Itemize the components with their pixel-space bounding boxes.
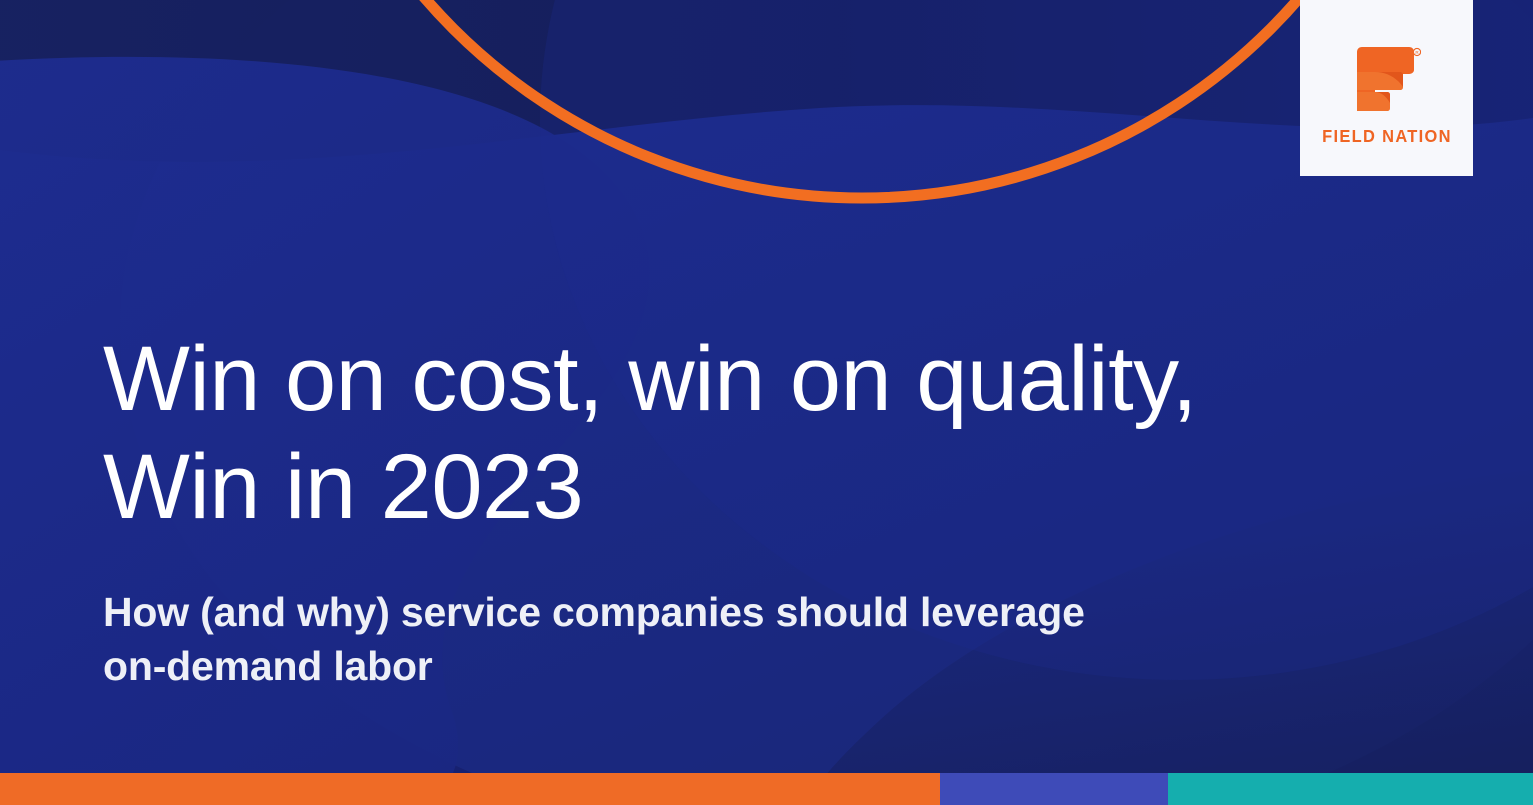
svg-text:R: R bbox=[1415, 50, 1419, 55]
bottom-bar-segment-orange bbox=[0, 773, 940, 805]
bottom-color-bar bbox=[0, 773, 1533, 805]
page-subtitle: How (and why) service companies should l… bbox=[103, 541, 1283, 693]
title-text-block: Win on cost, win on quality, Win in 2023… bbox=[103, 325, 1283, 693]
page-title: Win on cost, win on quality, Win in 2023 bbox=[103, 325, 1283, 541]
bottom-bar-segment-indigo bbox=[940, 773, 1168, 805]
brand-wordmark: FIELD NATION bbox=[1322, 126, 1452, 147]
title-slide: Win on cost, win on quality, Win in 2023… bbox=[0, 0, 1533, 805]
field-nation-f-mark: R bbox=[1353, 46, 1421, 112]
brand-logo-card[interactable]: R FIELD NATION bbox=[1300, 0, 1473, 176]
bottom-bar-segment-teal bbox=[1168, 773, 1533, 805]
